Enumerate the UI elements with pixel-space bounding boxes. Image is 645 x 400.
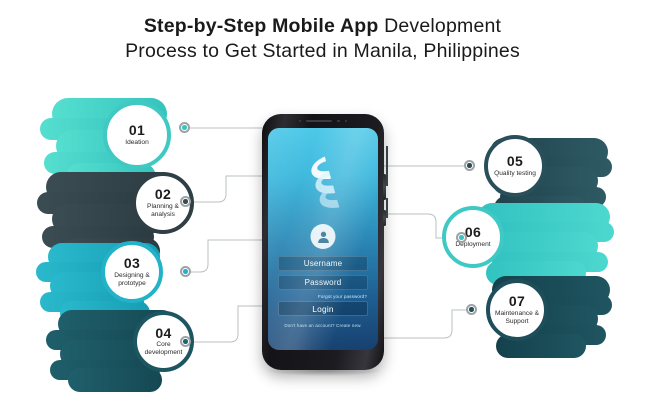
connector-dot-02[interactable] <box>180 196 191 207</box>
login-button[interactable]: Login <box>278 301 368 316</box>
connector-dot-07[interactable] <box>466 304 477 315</box>
step-circle-07[interactable]: 07 Maintenance & Support <box>486 279 548 341</box>
login-form: Username Password Forgot your password? … <box>278 256 368 328</box>
connector-04 <box>186 306 262 342</box>
step-number: 07 <box>509 294 525 309</box>
connector-dot-01[interactable] <box>179 122 190 133</box>
username-input[interactable]: Username <box>278 256 368 271</box>
step-label: Maintenance & Support <box>490 310 544 326</box>
dot-core <box>459 235 464 240</box>
step-circle-06[interactable]: 06 Deployment <box>442 206 504 268</box>
step-label: Designing & prototype <box>105 272 159 288</box>
step-number: 05 <box>507 154 523 169</box>
light-sensor-icon <box>345 120 347 122</box>
username-placeholder: Username <box>304 259 343 268</box>
create-account-link[interactable]: Don't have an account? Create new. <box>278 323 368 328</box>
phone-side-button-top <box>383 174 386 200</box>
phone-mockup: Username Password Forgot your password? … <box>262 114 384 370</box>
dot-core <box>469 307 474 312</box>
page-title: Step-by-Step Mobile App Development Proc… <box>0 14 645 64</box>
step-number: 01 <box>129 123 145 138</box>
step-number: 03 <box>124 256 140 271</box>
step-label: Ideation <box>120 139 153 147</box>
phone-screen: Username Password Forgot your password? … <box>268 128 378 350</box>
step-label: Deployment <box>450 241 495 249</box>
title-strong-part: Step-by-Step Mobile App <box>144 15 379 37</box>
connector-02 <box>186 176 262 202</box>
dot-core <box>183 269 188 274</box>
connector-dot-03[interactable] <box>180 266 191 277</box>
step-label: Quality testing <box>489 170 541 178</box>
step-number: 06 <box>465 225 481 240</box>
app-ribbon-logo <box>301 154 345 217</box>
front-camera-icon <box>337 120 340 123</box>
phone-top-bezel <box>262 114 384 128</box>
step-number: 02 <box>155 187 171 202</box>
title-light-part: Development <box>378 15 501 37</box>
login-button-label: Login <box>312 304 334 314</box>
dot-core <box>183 339 188 344</box>
step-number: 04 <box>155 326 171 341</box>
dot-core <box>467 163 472 168</box>
connector-03 <box>186 240 262 272</box>
step-circle-05[interactable]: 05 Quality testing <box>484 135 546 197</box>
user-avatar-icon <box>311 224 336 249</box>
infographic-canvas: Step-by-Step Mobile App Development Proc… <box>0 0 645 400</box>
title-line-1: Step-by-Step Mobile App Development <box>0 14 645 39</box>
forgot-password-link[interactable]: Forgot your password? <box>278 294 367 299</box>
step-circle-03[interactable]: 03 Designing & prototype <box>101 241 163 303</box>
connector-07 <box>384 310 472 338</box>
proximity-sensor-icon <box>299 120 301 122</box>
connector-dot-04[interactable] <box>180 336 191 347</box>
password-input[interactable]: Password <box>278 275 368 290</box>
phone-bottom-bezel <box>262 350 384 370</box>
earpiece-speaker <box>306 120 332 122</box>
connector-dot-06[interactable] <box>456 232 467 243</box>
password-placeholder: Password <box>305 278 342 287</box>
step-circle-01[interactable]: 01 Ideation <box>103 101 171 169</box>
phone-side-button-bottom <box>383 210 386 226</box>
dot-core <box>182 125 187 130</box>
connector-dot-05[interactable] <box>464 160 475 171</box>
title-line-2: Process to Get Started in Manila, Philip… <box>0 39 645 64</box>
dot-core <box>183 199 188 204</box>
